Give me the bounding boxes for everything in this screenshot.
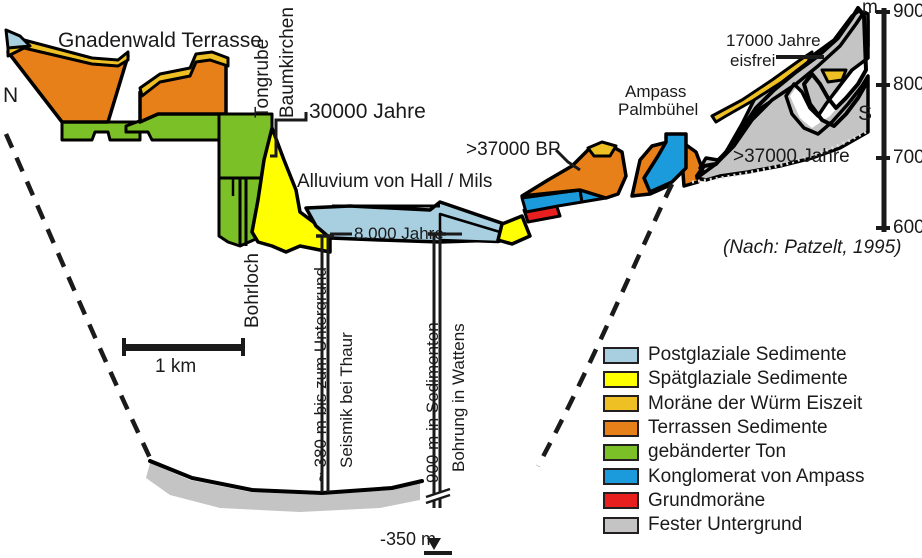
label-wattens-depth: 900 m in Sedimenten [424,322,441,483]
axis-tick-800: 800 [893,75,922,94]
label-30000-jahre: 30000 Jahre [309,101,426,122]
legend-item-konglomerat-ampass: Konglomerat von Ampass [603,464,919,488]
legend-item-spaetglaziale-sedimente: Spätglaziale Sedimente [603,367,919,391]
label-gnadenwald-terrasse: Gnadenwald Terrasse [58,30,262,51]
label-ampass: Ampass [625,83,686,100]
legend-swatch-konglomerat-ampass [603,468,639,485]
label-37000-bp: >37000 BP [466,140,561,159]
legend-label-fester-untergrund: Fester Untergrund [648,514,802,536]
label-37000-jahre: >37000 Jahre [733,147,850,166]
axis-tick-700: 700 [893,148,922,167]
legend-swatch-postglaziale-sedimente [603,347,639,364]
label-wattens-bottom: -350 m [380,530,436,548]
label-baumkirchen: Baumkirchen [278,7,297,118]
legend-swatch-terrassen-sedimente [603,420,639,437]
unit-moraene-right-notch [822,70,846,82]
label-credit: (Nach: Patzelt, 1995) [723,238,901,257]
legend-item-fester-untergrund: Fester Untergrund [603,513,919,537]
label-seismik-depth: ~ 380 m bis zum Untergrund [312,267,329,482]
unit-moraene-hill [588,142,616,156]
leader-30000-jahre [270,112,306,156]
legend-swatch-fester-untergrund [603,517,639,534]
legend-item-grundmoraene: Grundmoräne [603,489,919,513]
scale-bar [122,338,245,356]
legend-label-gebaenderter-ton: gebänderter Ton [648,441,786,463]
axis-unit-label: m [862,0,878,17]
label-palmbuehel: Palmbühel [618,101,698,118]
label-eisfrei-line1: 17000 Jahre [726,32,821,49]
unit-postglazial-left [6,30,30,48]
legend-label-postglaziale-sedimente: Postglaziale Sedimente [648,344,847,366]
legend-swatch-grundmoraene [603,492,639,509]
legend-item-postglaziale-sedimente: Postglaziale Sedimente [603,343,919,367]
label-bohrloch: Bohrloch [243,253,262,328]
legend: Postglaziale Sedimente Spätglaziale Sedi… [603,343,919,537]
legend-swatch-moraene-wuerm [603,395,639,412]
label-8000-jahre: 8.000 Jahre [354,225,444,242]
legend-item-gebaenderter-ton: gebänderter Ton [603,440,919,464]
unit-spaetglazial-right [498,216,530,244]
elevation-axis [876,8,890,232]
legend-label-konglomerat-ampass: Konglomerat von Ampass [648,466,865,488]
legend-swatch-spaetglaziale-sedimente [603,371,639,388]
label-alluvium: Alluvium von Hall / Mils [297,172,492,191]
legend-label-grundmoraene: Grundmoräne [648,490,765,512]
label-south: S [858,103,872,124]
label-tongrube: Tongrube [253,39,272,118]
legend-item-terrassen-sedimente: Terrassen Sedimente [603,416,919,440]
legend-label-moraene-wuerm: Moräne der Würm Eiszeit [648,393,862,415]
legend-label-spaetglaziale-sedimente: Spätglaziale Sedimente [648,368,848,390]
legend-swatch-gebaenderter-ton [603,444,639,461]
legend-label-terrassen-sedimente: Terrassen Sedimente [648,417,828,439]
axis-tick-600: 600 [893,218,922,237]
label-seismik-name: Seismik bei Thaur [338,332,355,468]
label-scalebar: 1 km [155,357,196,376]
cross-section-figure: Gnadenwald Terrasse Tongrube Baumkirchen… [0,0,922,558]
label-eisfrei-line2: eisfrei [730,52,775,69]
label-wattens-name: Bohrung in Wattens [450,323,467,472]
legend-item-moraene-wuerm: Moräne der Würm Eiszeit [603,392,919,416]
axis-tick-900: 900 [893,2,922,21]
label-north: N [3,85,18,106]
